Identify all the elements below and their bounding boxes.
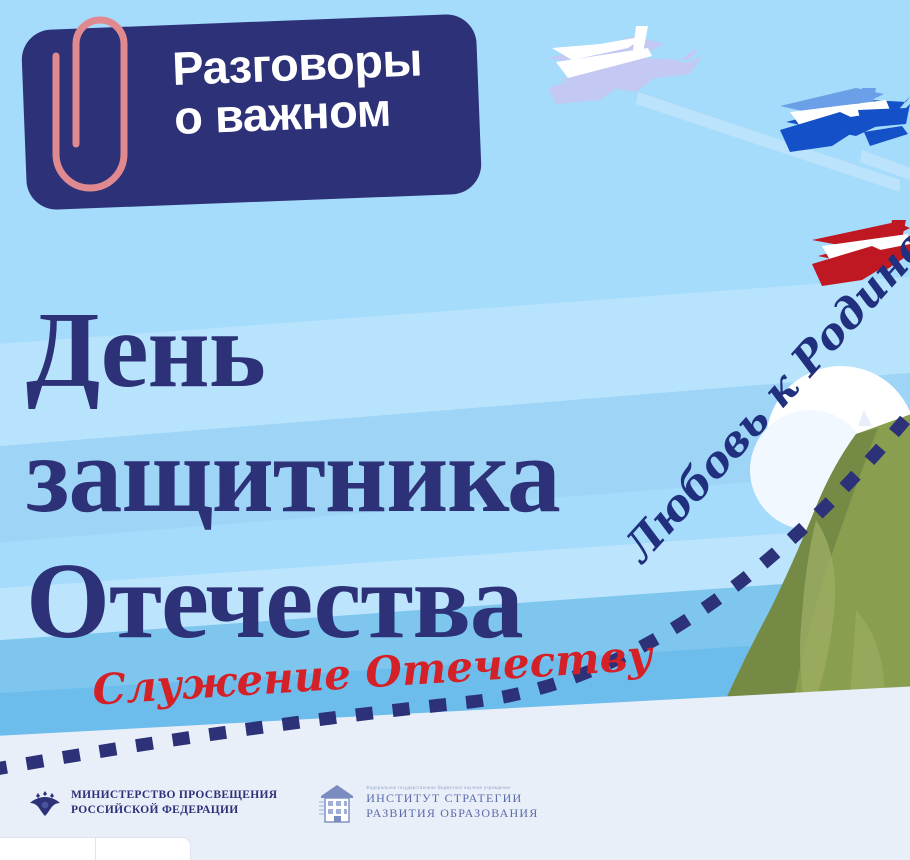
title-line-1: День xyxy=(26,288,726,413)
logo-institute-line-1: ИНСТИТУТ СТРАТЕГИИ xyxy=(366,791,538,806)
poster-canvas: Разговоры о важном День защитника Отечес… xyxy=(0,0,910,860)
logo-institute-text: Федеральное государственное бюджетное на… xyxy=(366,785,538,820)
russian-coat-of-arms-icon xyxy=(28,788,62,818)
logo-ministry-line-1: МИНИСТЕРСТВО ПРОСВЕЩЕНИЯ xyxy=(71,788,277,803)
logo-ministry: МИНИСТЕРСТВО ПРОСВЕЩЕНИЯ РОССИЙСКОЙ ФЕДЕ… xyxy=(28,788,277,818)
logo-institute-line-2: РАЗВИТИЯ ОБРАЗОВАНИЯ xyxy=(366,806,538,821)
institute-building-icon xyxy=(317,782,357,824)
logo-institute-lines: ИНСТИТУТ СТРАТЕГИИ РАЗВИТИЯ ОБРАЗОВАНИЯ xyxy=(366,791,538,821)
paperclip-icon xyxy=(40,4,160,204)
title-line-2: защитника xyxy=(26,413,726,538)
badge-line-2: о важном xyxy=(173,82,475,142)
logo-ministry-text: МИНИСТЕРСТВО ПРОСВЕЩЕНИЯ РОССИЙСКОЙ ФЕДЕ… xyxy=(71,788,277,818)
poster-title: День защитника Отечества xyxy=(26,288,726,664)
badge-title: Разговоры о важном xyxy=(171,34,475,143)
logo-institute: Федеральное государственное бюджетное на… xyxy=(317,782,538,824)
ui-control-divider xyxy=(95,838,96,860)
logo-ministry-line-2: РОССИЙСКОЙ ФЕДЕРАЦИИ xyxy=(71,803,277,818)
bottom-left-ui-control[interactable] xyxy=(0,837,191,860)
footer-logos: МИНИСТЕРСТВО ПРОСВЕЩЕНИЯ РОССИЙСКОЙ ФЕДЕ… xyxy=(28,782,538,824)
